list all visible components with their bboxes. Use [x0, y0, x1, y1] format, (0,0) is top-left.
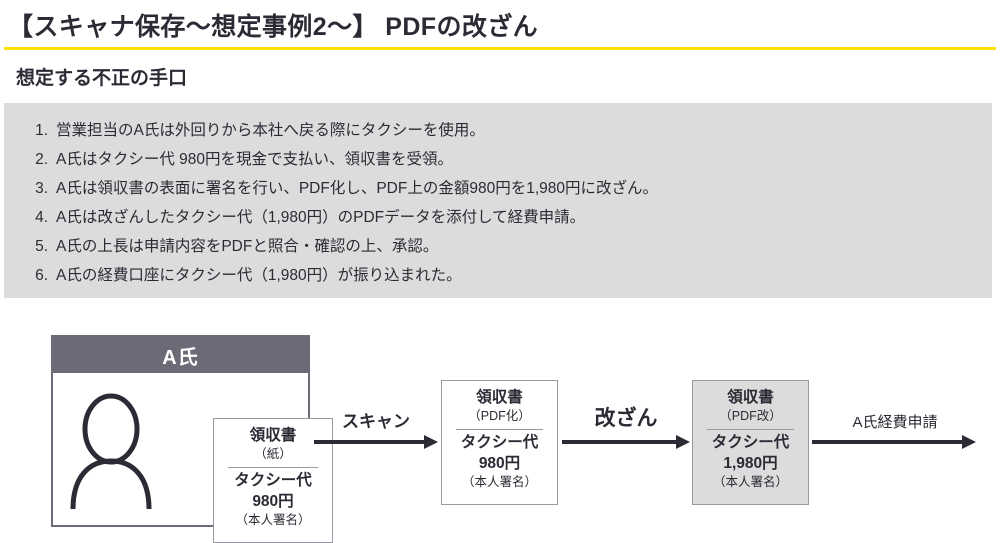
list-item: A氏は領収書の表面に署名を行い、PDF化し、PDF上の金額980円を1,980円… [56, 174, 992, 203]
arrow-tamper: 改ざん [562, 418, 690, 444]
actor-box: A氏 領収書 （紙） タクシー代 980円 （本人署名） [51, 335, 310, 527]
scenario-panel: 営業担当のA氏は外回りから本社へ戻る際にタクシーを使用。 A氏はタクシー代 98… [4, 103, 992, 298]
person-icon [67, 389, 155, 514]
receipt-item: タクシー代 [693, 433, 808, 453]
receipt-amount: 1,980円 [693, 453, 808, 474]
section-heading: 想定する不正の手口 [16, 63, 187, 90]
receipt-title: 領収書 [693, 388, 808, 408]
receipt-item: タクシー代 [214, 471, 332, 491]
receipt-note: （本人署名） [693, 474, 808, 491]
receipt-note: （本人署名） [214, 512, 332, 529]
receipt-divider [228, 467, 318, 468]
arrow-label-scan: スキャン [314, 407, 438, 432]
receipt-card-pdf: 領収書 （PDF化） タクシー代 980円 （本人署名） [441, 380, 558, 505]
arrow-line [562, 440, 676, 444]
receipt-subtitle: （PDF改） [693, 408, 808, 425]
actor-header-label: A氏 [53, 337, 308, 373]
arrow-line [314, 440, 424, 444]
receipt-amount: 980円 [442, 453, 557, 474]
receipt-divider [707, 429, 794, 430]
receipt-amount: 980円 [214, 491, 332, 512]
arrow-scan: スキャン [314, 418, 438, 444]
title-accent-rule [4, 47, 996, 50]
page-title: 【スキャナ保存〜想定事例2〜】 PDFの改ざん [8, 7, 538, 43]
receipt-item: タクシー代 [442, 433, 557, 453]
list-item: A氏の経費口座にタクシー代（1,980円）が振り込まれた。 [56, 261, 992, 290]
arrow-claim: A氏経費申請 [812, 418, 978, 444]
receipt-subtitle: （紙） [214, 446, 332, 463]
actor-body: 領収書 （紙） タクシー代 980円 （本人署名） [53, 373, 308, 525]
flow-diagram: A氏 領収書 （紙） タクシー代 980円 （本人署名） スキャン [0, 330, 1000, 530]
list-item: 営業担当のA氏は外回りから本社へ戻る際にタクシーを使用。 [56, 116, 992, 145]
arrow-line [812, 440, 962, 444]
receipt-title: 領収書 [442, 388, 557, 408]
receipt-card-forged: 領収書 （PDF改） タクシー代 1,980円 （本人署名） [692, 380, 809, 505]
arrow-head-icon [962, 435, 976, 449]
scenario-list: 営業担当のA氏は外回りから本社へ戻る際にタクシーを使用。 A氏はタクシー代 98… [4, 103, 992, 290]
receipt-divider [456, 429, 543, 430]
list-item: A氏はタクシー代 980円を現金で支払い、領収書を受領。 [56, 145, 992, 174]
title-block: 【スキャナ保存〜想定事例2〜】 PDFの改ざん [0, 0, 1000, 50]
receipt-note: （本人署名） [442, 474, 557, 491]
arrow-head-icon [424, 435, 438, 449]
arrow-label-claim: A氏経費申請 [812, 411, 978, 432]
arrow-label-tamper: 改ざん [562, 402, 690, 432]
receipt-subtitle: （PDF化） [442, 408, 557, 425]
list-item: A氏は改ざんしたタクシー代（1,980円）のPDFデータを添付して経費申請。 [56, 203, 992, 232]
list-item: A氏の上長は申請内容をPDFと照合・確認の上、承認。 [56, 232, 992, 261]
arrow-head-icon [676, 435, 690, 449]
